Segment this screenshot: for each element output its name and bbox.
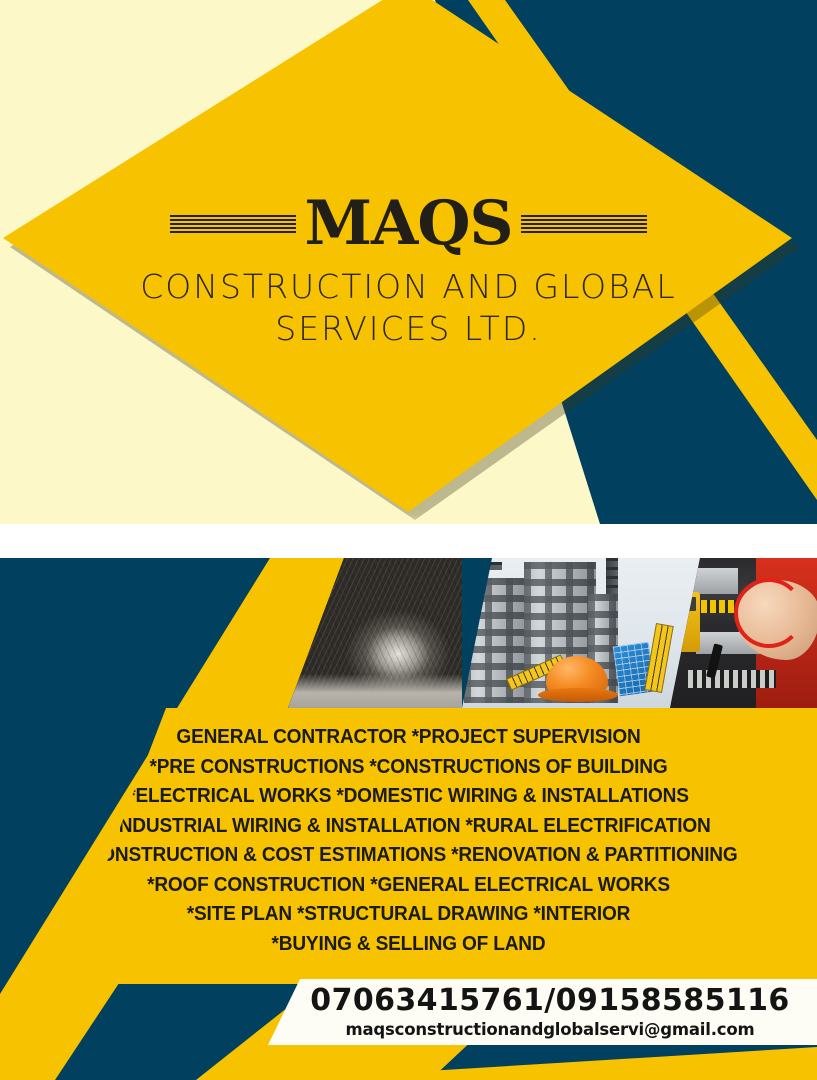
probe-cable-icon <box>734 578 804 648</box>
service-line: *BUYING & SELLING OF LAND <box>29 929 789 959</box>
steel-wire-coils-photo <box>248 558 462 708</box>
logo-card: MAQS CONSTRUCTION AND GLOBAL SERVICES LT… <box>0 0 817 524</box>
contact-phone[interactable]: 07063415761/09158585116 <box>305 983 795 1019</box>
hard-hat-brim-icon <box>538 688 618 702</box>
services-list: GENERAL CONTRACTOR *PROJECT SUPERVISION … <box>0 722 817 958</box>
coils-image <box>248 558 462 708</box>
contact-inner: 07063415761/09158585116 maqsconstruction… <box>305 983 795 1041</box>
contact-band: 07063415761/09158585116 maqsconstruction… <box>0 979 817 1045</box>
contact-email[interactable]: maqsconstructionandglobalservi@gmail.com <box>305 1019 795 1041</box>
service-line: *CONSTRUCTION & COST ESTIMATIONS *RENOVA… <box>29 840 789 870</box>
service-line: GENERAL CONTRACTOR *PROJECT SUPERVISION <box>29 722 789 752</box>
brand-subtitle-line-2: SERVICES LTD. <box>0 309 817 349</box>
flyer: MAQS CONSTRUCTION AND GLOBAL SERVICES LT… <box>0 0 817 1080</box>
rule-left-icon <box>170 214 296 235</box>
service-line: *ELECTRICAL WORKS *DOMESTIC WIRING & INS… <box>29 781 789 811</box>
brand-block: MAQS CONSTRUCTION AND GLOBAL SERVICES LT… <box>0 183 817 349</box>
services-panel: GENERAL CONTRACTOR *PROJECT SUPERVISION … <box>0 708 817 984</box>
photo-strip <box>248 558 817 708</box>
building-image <box>420 558 700 708</box>
brand-name-row: MAQS <box>0 183 817 265</box>
brand-name: MAQS <box>304 190 512 258</box>
service-line: *INDUSTRIAL WIRING & INSTALLATION *RURAL… <box>29 811 789 841</box>
building-construction-photo <box>420 558 700 708</box>
brand-subtitle-line-1: CONSTRUCTION AND GLOBAL <box>0 267 817 307</box>
rule-right-icon <box>521 214 647 235</box>
service-line: *SITE PLAN *STRUCTURAL DRAWING *INTERIOR <box>29 899 789 929</box>
service-line: *ROOF CONSTRUCTION *GENERAL ELECTRICAL W… <box>29 870 789 900</box>
services-card: GENERAL CONTRACTOR *PROJECT SUPERVISION … <box>0 558 817 1080</box>
terminal-row-bottom <box>688 670 776 688</box>
coil-ground <box>248 674 462 708</box>
